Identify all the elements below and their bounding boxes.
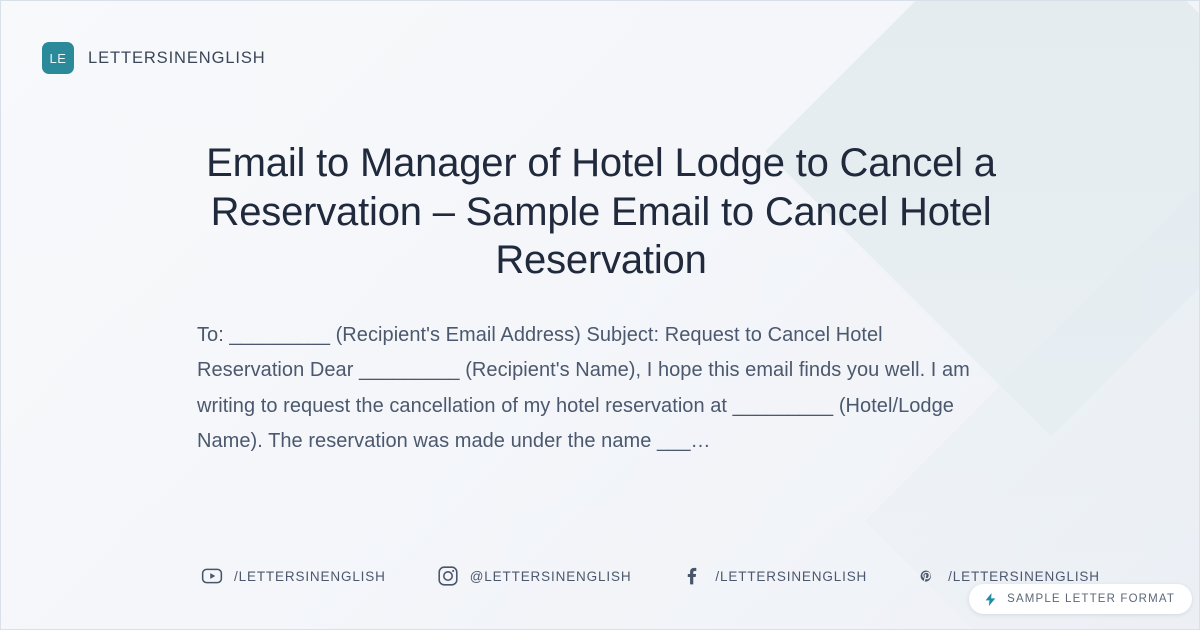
instagram-icon <box>437 565 459 587</box>
social-links-bar: /LETTERSINENGLISH @LETTERSINENGLISH /LET… <box>201 565 1100 587</box>
social-handle-pinterest: /LETTERSINENGLISH <box>948 569 1100 584</box>
facebook-icon <box>682 565 704 587</box>
post-content: Email to Manager of Hotel Lodge to Cance… <box>181 139 1021 460</box>
pinterest-icon <box>915 565 937 587</box>
social-link-youtube[interactable]: /LETTERSINENGLISH <box>201 565 386 587</box>
brand-logo[interactable]: LE LETTERSINENGLISH <box>42 42 266 74</box>
social-link-facebook[interactable]: /LETTERSINENGLISH <box>682 565 867 587</box>
brand-logo-mark: LE <box>42 42 74 74</box>
brand-logo-initials: LE <box>50 51 67 66</box>
status-badge[interactable]: SAMPLE LETTER FORMAT <box>969 584 1192 614</box>
social-share-card: LE LETTERSINENGLISH Email to Manager of … <box>0 0 1200 630</box>
page-title: Email to Manager of Hotel Lodge to Cance… <box>181 139 1021 285</box>
brand-name-label: LETTERSINENGLISH <box>88 49 266 68</box>
post-excerpt: To: _________ (Recipient's Email Address… <box>197 318 979 460</box>
social-handle-youtube: /LETTERSINENGLISH <box>234 569 386 584</box>
social-link-instagram[interactable]: @LETTERSINENGLISH <box>437 565 632 587</box>
youtube-icon <box>201 565 223 587</box>
social-handle-facebook: /LETTERSINENGLISH <box>715 569 867 584</box>
status-badge-label: SAMPLE LETTER FORMAT <box>1007 593 1175 605</box>
social-handle-instagram: @LETTERSINENGLISH <box>470 569 632 584</box>
lightning-bolt-icon <box>983 592 998 607</box>
